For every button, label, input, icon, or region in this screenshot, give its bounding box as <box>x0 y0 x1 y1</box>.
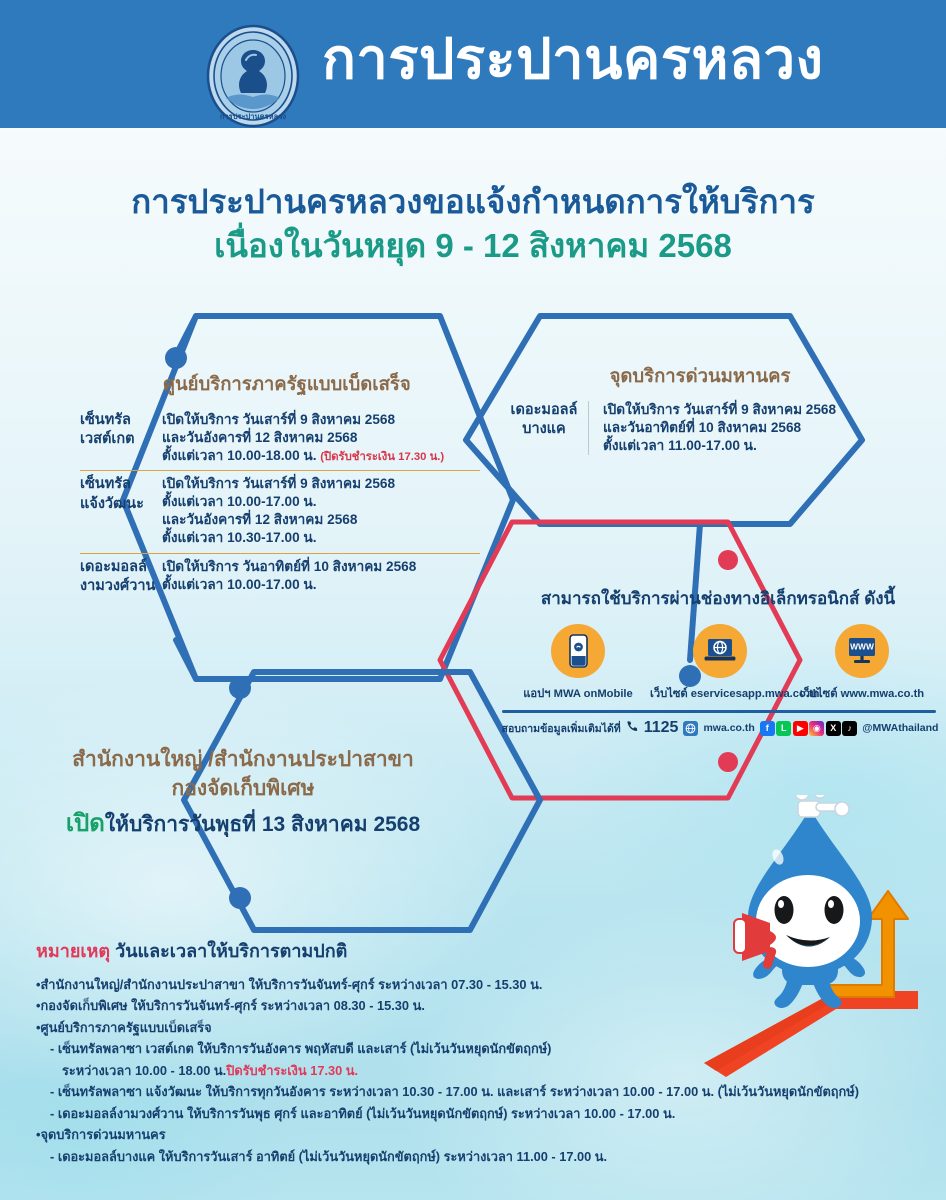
express-service-point-card: จุดบริการด่วนมหานคร เดอะมอลล์ บางแค เปิด… <box>500 362 900 455</box>
schedule-line: เปิดให้บริการ วันเสาร์ที่ 9 สิงหาคม 2568 <box>162 475 480 493</box>
branch-name-line1: เซ็นทรัล <box>80 475 156 494</box>
hex-node-dot <box>229 677 251 699</box>
faucet-icon <box>795 795 849 817</box>
divider <box>502 710 936 713</box>
footer-notes: หมายเหตุ วันและเวลาให้บริการตามปกติ •สำน… <box>36 936 926 1167</box>
gov-service-row: เดอะมอลล์ งามวงศ์วาน เปิดให้บริการ วันอา… <box>80 553 480 602</box>
youtube-icon[interactable]: ▶ <box>793 721 808 736</box>
e-channels-heading: สามารถใช้บริการผ่านช่องทางอิเล็กทรอนิกส์… <box>494 585 942 612</box>
branch-name-line2: บางแค <box>500 420 588 439</box>
branch-name: เซ็นทรัล แจ้งวัฒนะ <box>80 475 162 514</box>
e-channel-item-eservices[interactable]: เว็บไซต์ eservicesapp.mwa.co.th <box>650 624 790 702</box>
open-word: เปิด <box>66 810 105 837</box>
schedule-line: ตั้งแต่เวลา 10.00-17.00 น. <box>162 493 480 511</box>
branch-name: เซ็นทรัล เวสต์เกต <box>80 411 162 450</box>
mwa-seal-icon: การประปานครหลวง <box>196 24 310 128</box>
contact-bar: สอบถามข้อมูลเพิ่มเติมได้ที่ 1125 mwa.co.… <box>494 719 942 737</box>
desktop-www-icon: WWW <box>835 624 889 678</box>
note-line: ระหว่างเวลา 10.00 - 18.00 น.ปิดรับชำระเง… <box>36 1060 926 1081</box>
laptop-globe-icon <box>693 624 747 678</box>
branch-name-line2: เวสต์เกต <box>80 430 156 449</box>
branch-schedule: เปิดให้บริการ วันเสาร์ที่ 9 สิงหาคม 2568… <box>162 411 480 465</box>
head-office-card: สำนักงานใหญ่ /สำนักงานประปาสาขา กองจัดเก… <box>28 745 458 842</box>
express-service-row: เดอะมอลล์ บางแค เปิดให้บริการ วันเสาร์ที… <box>500 401 900 455</box>
telephone-icon <box>626 720 639 736</box>
note-line: - เซ็นทรัลพลาซา เวสต์เกต ให้บริการวันอัง… <box>36 1038 926 1059</box>
express-point-heading: จุดบริการด่วนมหานคร <box>500 362 900 391</box>
electronic-channels-card: สามารถใช้บริการผ่านช่องทางอิเล็กทรอนิกส์… <box>494 585 942 737</box>
schedule-line: และวันอังคารที่ 12 สิงหาคม 2568 <box>162 511 480 529</box>
org-name: การประปานครหลวง <box>322 30 823 89</box>
facebook-icon[interactable]: f <box>760 721 775 736</box>
contact-prefix: สอบถามข้อมูลเพิ่มเติมได้ที่ <box>502 720 621 737</box>
note-line: - เซ็นทรัลพลาซา แจ้งวัฒนะ ให้บริการทุกวั… <box>36 1081 926 1102</box>
note-line: - เดอะมอลล์บางแค ให้บริการวันเสาร์ อาทิต… <box>36 1146 926 1167</box>
page-title: การประปานครหลวงขอแจ้งกำหนดการให้บริการ เ… <box>0 180 946 267</box>
infographic-root: การประปานครหลวง การประปานครหลวง การประปา… <box>0 0 946 1200</box>
branch-name: เดอะมอลล์ บางแค <box>500 401 588 440</box>
website-icon <box>683 721 698 736</box>
notes-heading: หมายเหตุ วันและเวลาให้บริการตามปกติ <box>36 936 926 965</box>
title-line-1: การประปานครหลวงขอแจ้งกำหนดการให้บริการ <box>0 180 946 224</box>
x-twitter-icon[interactable]: X <box>826 721 841 736</box>
schedule-line: เปิดให้บริการ วันอาทิตย์ที่ 10 สิงหาคม 2… <box>162 558 480 576</box>
head-office-line-1: สำนักงานใหญ่ /สำนักงานประปาสาขา <box>28 745 458 774</box>
note-line: - เดอะมอลล์งามวงศ์วาน ให้บริการวันพุธ ศุ… <box>36 1103 926 1124</box>
gov-service-center-card: ศูนย์บริการภาครัฐแบบเบ็ดเสร็จ เซ็นทรัล เ… <box>80 370 480 601</box>
schedule-line: และวันอาทิตย์ที่ 10 สิงหาคม 2568 <box>603 419 900 437</box>
payment-cutoff-note: ปิดรับชำระเงิน 17.30 น. <box>226 1063 358 1078</box>
schedule-line: เปิดให้บริการ วันเสาร์ที่ 9 สิงหาคม 2568 <box>162 411 480 429</box>
social-handle: @MWAthailand <box>862 722 938 734</box>
branch-name-line2: งามวงศ์วาน <box>80 577 156 596</box>
gov-service-row: เซ็นทรัล แจ้งวัฒนะ เปิดให้บริการ วันเสาร… <box>80 470 480 552</box>
line-icon[interactable]: L <box>776 721 791 736</box>
head-office-line-2: กองจัดเก็บพิเศษ <box>28 774 458 803</box>
schedule-line: ตั้งแต่เวลา 10.00-18.00 น. (ปิดรับชำระเง… <box>162 447 480 465</box>
gov-service-row: เซ็นทรัล เวสต์เกต เปิดให้บริการ วันเสาร์… <box>80 407 480 470</box>
tiktok-icon[interactable]: ♪ <box>842 721 857 736</box>
branch-name-line2: แจ้งวัฒนะ <box>80 495 156 514</box>
notes-heading-rest: วันและเวลาให้บริการตามปกติ <box>110 941 347 961</box>
schedule-line: ตั้งแต่เวลา 11.00-17.00 น. <box>603 437 900 455</box>
branch-schedule: เปิดให้บริการ วันเสาร์ที่ 9 สิงหาคม 2568… <box>162 475 480 547</box>
website-url[interactable]: mwa.co.th <box>703 722 754 734</box>
schedule-line: และวันอังคารที่ 12 สิงหาคม 2568 <box>162 429 480 447</box>
hex-node-dot <box>718 550 738 570</box>
branch-schedule: เปิดให้บริการ วันอาทิตย์ที่ 10 สิงหาคม 2… <box>162 558 480 594</box>
note-line: •กองจัดเก็บพิเศษ ให้บริการวันจันทร์-ศุกร… <box>36 995 926 1016</box>
branch-name-line1: เซ็นทรัล <box>80 411 156 430</box>
hex-node-dot <box>718 752 738 772</box>
e-channel-item-website[interactable]: WWW เว็บไซต์ www.mwa.co.th <box>792 624 932 702</box>
hex-node-dot <box>165 347 187 369</box>
instagram-icon[interactable]: ◉ <box>809 721 824 736</box>
note-line: •สำนักงานใหญ่/สำนักงานประปาสาขา ให้บริกา… <box>36 974 926 995</box>
svg-text:การประปานครหลวง: การประปานครหลวง <box>220 112 286 121</box>
open-date-text: ให้บริการวันพุธที่ 13 สิงหาคม 2568 <box>105 813 420 836</box>
note-line: •จุดบริการด่วนมหานคร <box>36 1124 926 1145</box>
hex-node-dot <box>229 887 251 909</box>
schedule-time: ตั้งแต่เวลา 10.00-18.00 น. <box>162 448 316 463</box>
e-channel-item-mobile[interactable]: แอปฯ MWA onMobile <box>508 624 648 702</box>
title-line-2: เนื่องในวันหยุด 9 - 12 สิงหาคม 2568 <box>0 224 946 268</box>
schedule-line: เปิดให้บริการ วันเสาร์ที่ 9 สิงหาคม 2568 <box>603 401 900 419</box>
branch-schedule: เปิดให้บริการ วันเสาร์ที่ 9 สิงหาคม 2568… <box>588 401 900 455</box>
schedule-line: ตั้งแต่เวลา 10.00-17.00 น. <box>162 576 480 594</box>
gov-center-heading: ศูนย์บริการภาครัฐแบบเบ็ดเสร็จ <box>94 370 480 399</box>
remark-word: หมายเหตุ <box>36 941 110 961</box>
note-line-text: ระหว่างเวลา 10.00 - 18.00 น. <box>62 1063 226 1078</box>
branch-name-line1: เดอะมอลล์ <box>80 558 156 577</box>
payment-cutoff-note: (ปิดรับชำระเงิน 17.30 น.) <box>320 451 444 463</box>
note-line: •ศูนย์บริการภาครัฐแบบเบ็ดเสร็จ <box>36 1017 926 1038</box>
schedule-line: ตั้งแต่เวลา 10.30-17.00 น. <box>162 529 480 547</box>
mobile-phone-icon <box>551 624 605 678</box>
e-channel-label: เว็บไซต์ www.mwa.co.th <box>792 684 932 702</box>
social-icon-list: f L ▶ ◉ X ♪ <box>760 721 858 736</box>
branch-name: เดอะมอลล์ งามวงศ์วาน <box>80 558 162 597</box>
page-header: การประปานครหลวง การประปานครหลวง <box>0 0 946 128</box>
e-channels-icon-list: แอปฯ MWA onMobile เว็บไซต์ eservicesapp.… <box>494 624 942 702</box>
svg-text:WWW: WWW <box>850 642 874 652</box>
branch-name-line1: เดอะมอลล์ <box>500 401 588 420</box>
hotline-number[interactable]: 1125 <box>644 719 679 737</box>
e-channel-label: เว็บไซต์ eservicesapp.mwa.co.th <box>650 684 790 702</box>
e-channel-label: แอปฯ MWA onMobile <box>508 684 648 702</box>
head-office-open-line: เปิดให้บริการวันพุธที่ 13 สิงหาคม 2568 <box>28 806 458 842</box>
